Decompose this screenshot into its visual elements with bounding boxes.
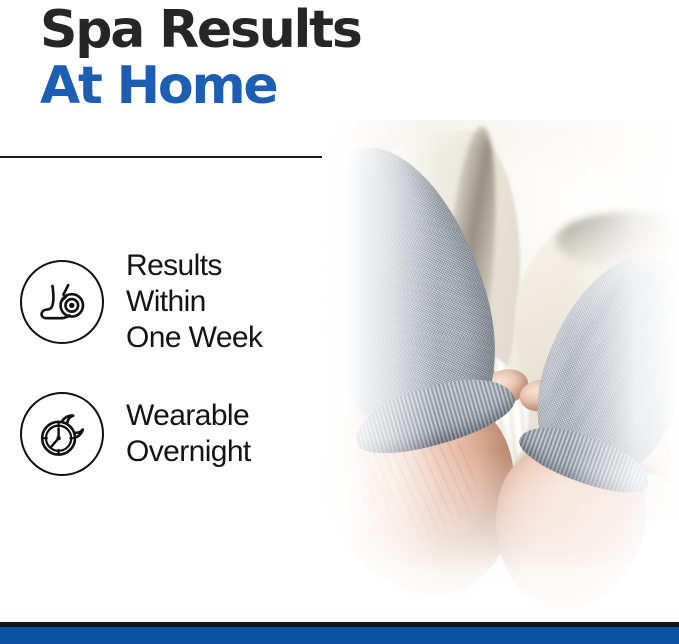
horizontal-rule — [0, 156, 322, 158]
feature-row-results-within-one-week: Results Within One Week — [0, 248, 340, 356]
product-photo — [318, 0, 679, 622]
headline-block: Spa Results At Home — [40, 2, 361, 114]
feature-label-wearable-overnight: Wearable Overnight — [126, 398, 251, 470]
photo-stage — [318, 0, 679, 622]
product-infographic-page: Spa Results At Home — [0, 0, 679, 644]
photo-fade-bottom — [318, 452, 679, 622]
footer-blue-bar — [0, 627, 679, 644]
feature-label-results-within-one-week: Results Within One Week — [126, 248, 262, 356]
feature-list: Results Within One Week — [0, 248, 340, 512]
clock-moon-icon — [20, 392, 104, 476]
foot-target-icon — [20, 260, 104, 344]
headline-line-1: Spa Results — [40, 2, 361, 58]
feature-row-wearable-overnight: Wearable Overnight — [0, 392, 340, 476]
headline-line-2: At Home — [40, 58, 361, 114]
